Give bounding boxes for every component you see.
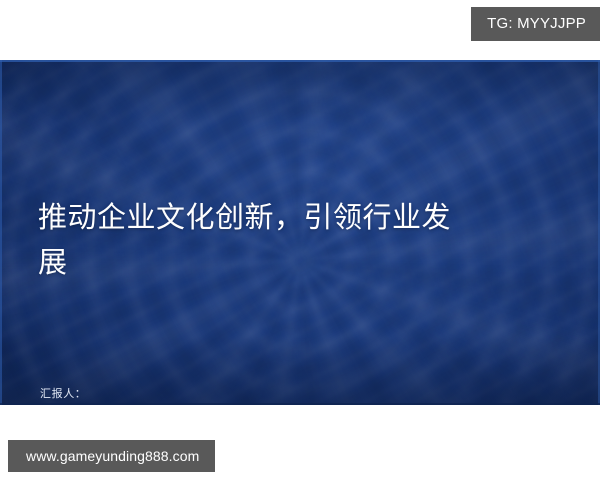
slide-presenter-label: 汇报人： <box>40 386 86 402</box>
slide-left-edge <box>0 60 2 405</box>
slide-top-edge <box>0 60 600 62</box>
slide-content: 推动企业文化创新，引领行业发展 汇报人： 2024-01-21 <box>0 60 600 405</box>
site-watermark-badge: www.gameyunding888.com <box>8 440 215 472</box>
tg-watermark-badge: TG: MYYJJPP <box>471 7 600 41</box>
slide-title: 推动企业文化创新，引领行业发展 <box>38 196 458 286</box>
slide-bottom-edge <box>0 403 600 405</box>
presentation-slide[interactable]: 推动企业文化创新，引领行业发展 汇报人： 2024-01-21 <box>0 60 600 405</box>
page-canvas: TG: MYYJJPP 推动企业文化创新，引领行业发展 汇报人： 2024-01… <box>0 0 600 480</box>
